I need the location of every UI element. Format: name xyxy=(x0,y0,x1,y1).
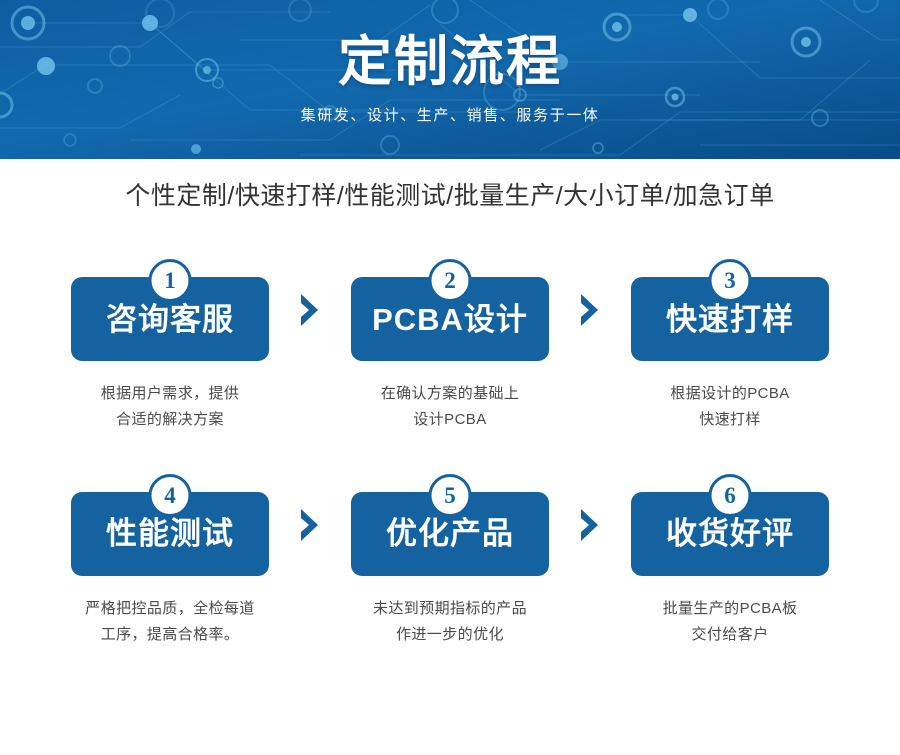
step-card-wrap: 2 PCBA设计 xyxy=(351,259,549,361)
step-description-line1: 未达到预期指标的产品 xyxy=(373,596,527,622)
flow-row-2: 4 性能测试 严格把控品质，全检每道 工序，提高合格率。 5 xyxy=(0,456,900,649)
chevron-right-icon xyxy=(577,291,603,329)
step-card-wrap: 6 收货好评 xyxy=(631,474,829,576)
step-description-line1: 在确认方案的基础上 xyxy=(381,381,520,407)
step-description-line2: 作进一步的优化 xyxy=(373,622,527,648)
step-number-badge: 3 xyxy=(709,259,752,302)
step-number-badge: 5 xyxy=(429,474,472,517)
chevron-right-icon xyxy=(297,506,323,544)
flow-arrow-2-3 xyxy=(549,241,631,361)
step-number: 4 xyxy=(164,484,176,507)
step-description-line2: 交付给客户 xyxy=(663,622,798,648)
tagline-text: 个性定制/快速打样/性能测试/批量生产/大小订单/加急订单 xyxy=(125,176,774,212)
step-number: 1 xyxy=(164,269,176,292)
tagline-bar: 个性定制/快速打样/性能测试/批量生产/大小订单/加急订单 xyxy=(0,159,900,229)
flow-arrow-4-5 xyxy=(269,456,351,576)
step-number-badge: 4 xyxy=(149,474,192,517)
chevron-right-icon xyxy=(297,291,323,329)
step-description-line2: 设计PCBA xyxy=(381,407,520,433)
step-label: 快速打样 xyxy=(666,304,794,335)
step-description: 批量生产的PCBA板 交付给客户 xyxy=(663,596,798,649)
step-description-line2: 快速打样 xyxy=(670,407,789,433)
step-label: 优化产品 xyxy=(386,518,514,549)
flow-step-2[interactable]: 2 PCBA设计 在确认方案的基础上 设计PCBA xyxy=(351,241,549,434)
flow-arrow-1-2 xyxy=(269,241,351,361)
step-number-badge: 1 xyxy=(149,259,192,302)
step-number: 6 xyxy=(724,484,736,507)
step-description: 根据用户需求，提供 合适的解决方案 xyxy=(101,381,240,434)
step-description-line2: 工序，提高合格率。 xyxy=(85,622,254,648)
step-label: PCBA设计 xyxy=(372,304,528,335)
step-description: 未达到预期指标的产品 作进一步的优化 xyxy=(373,596,527,649)
step-number: 5 xyxy=(444,484,456,507)
page-banner: 定制流程 集研发、设计、生产、销售、服务于一体 xyxy=(0,0,900,159)
page-subtitle: 集研发、设计、生产、销售、服务于一体 xyxy=(301,104,600,125)
step-label: 咨询客服 xyxy=(106,304,234,335)
flow-row-1: 1 咨询客服 根据用户需求，提供 合适的解决方案 2 xyxy=(0,241,900,434)
step-description-line1: 批量生产的PCBA板 xyxy=(663,596,798,622)
step-card-wrap: 1 咨询客服 xyxy=(71,259,269,361)
chevron-right-icon xyxy=(577,506,603,544)
step-number-badge: 2 xyxy=(429,259,472,302)
step-number: 3 xyxy=(724,269,736,292)
flow-arrow-5-6 xyxy=(549,456,631,576)
step-description-line1: 根据用户需求，提供 xyxy=(101,381,240,407)
flow-step-5[interactable]: 5 优化产品 未达到预期指标的产品 作进一步的优化 xyxy=(351,456,549,649)
step-description-line2: 合适的解决方案 xyxy=(101,407,240,433)
step-number-badge: 6 xyxy=(709,474,752,517)
step-description-line1: 根据设计的PCBA xyxy=(670,381,789,407)
step-card-wrap: 3 快速打样 xyxy=(631,259,829,361)
flow-step-3[interactable]: 3 快速打样 根据设计的PCBA 快速打样 xyxy=(631,241,829,434)
step-description: 严格把控品质，全检每道 工序，提高合格率。 xyxy=(85,596,254,649)
step-label: 性能测试 xyxy=(106,518,234,549)
step-number: 2 xyxy=(444,269,456,292)
step-description: 在确认方案的基础上 设计PCBA xyxy=(381,381,520,434)
step-description: 根据设计的PCBA 快速打样 xyxy=(670,381,789,434)
step-description-line1: 严格把控品质，全检每道 xyxy=(85,596,254,622)
flow-step-6[interactable]: 6 收货好评 批量生产的PCBA板 交付给客户 xyxy=(631,456,829,649)
flow-step-1[interactable]: 1 咨询客服 根据用户需求，提供 合适的解决方案 xyxy=(71,241,269,434)
page-title: 定制流程 xyxy=(338,34,562,93)
step-card-wrap: 5 优化产品 xyxy=(351,474,549,576)
process-flow: 1 咨询客服 根据用户需求，提供 合适的解决方案 2 xyxy=(0,229,900,648)
flow-step-4[interactable]: 4 性能测试 严格把控品质，全检每道 工序，提高合格率。 xyxy=(71,456,269,649)
step-card-wrap: 4 性能测试 xyxy=(71,474,269,576)
step-label: 收货好评 xyxy=(666,518,794,549)
